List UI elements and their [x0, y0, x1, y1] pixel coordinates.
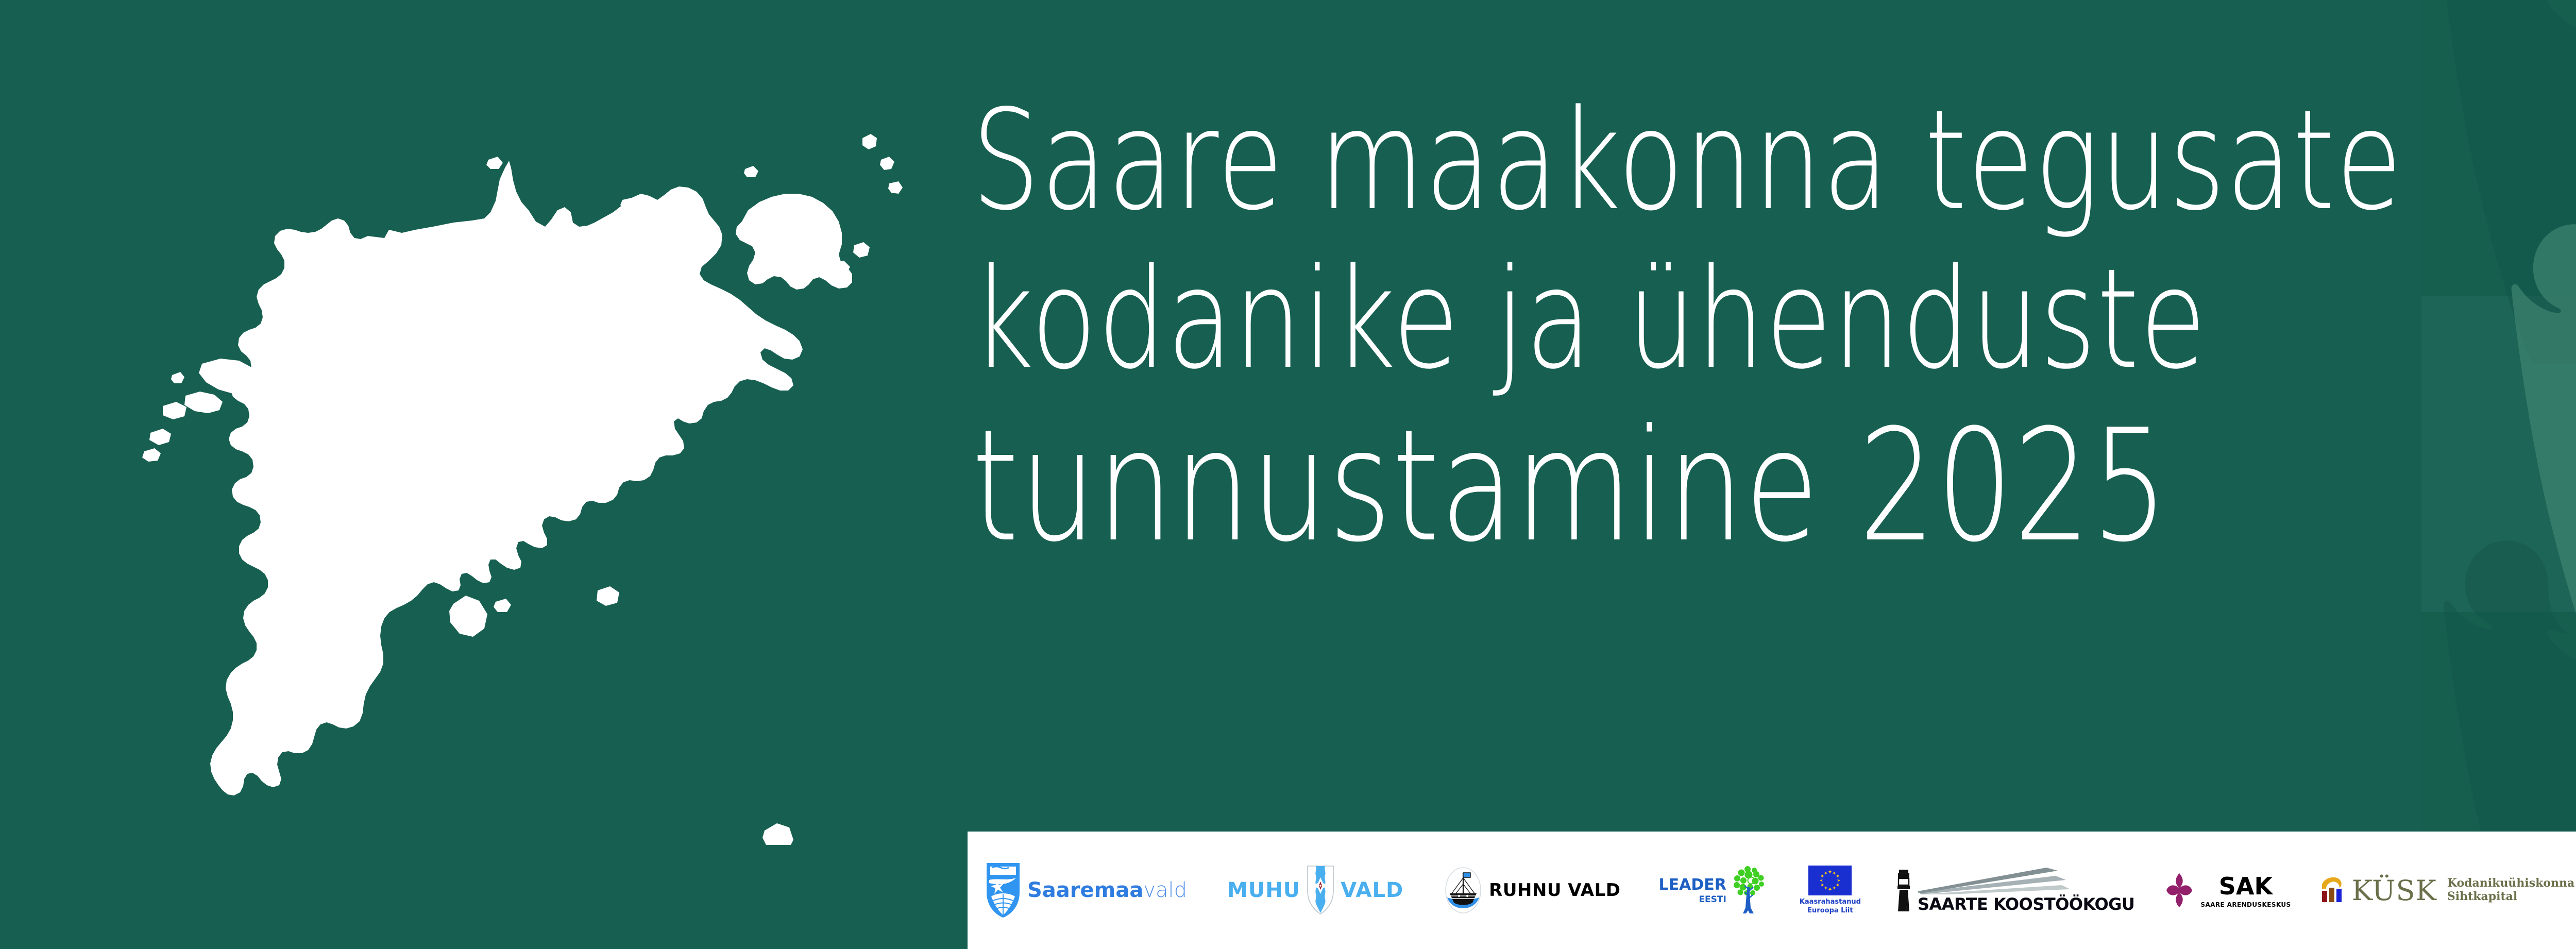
- leader-tree-icon: [1731, 865, 1767, 916]
- logo-saaremaa-vald[interactable]: Saaremaavald: [986, 862, 1187, 918]
- logo-muhu-word: MUHU: [1227, 878, 1300, 902]
- page-title: Saare maakonna tegusate kodanike ja ühen…: [972, 92, 2576, 584]
- ruhnu-coat-of-arms-icon: [1445, 867, 1482, 914]
- logo-euroopa-liit[interactable]: Kaasrahastanud Euroopa Liit: [1800, 866, 1861, 916]
- title-line-1: Saare maakonna tegusate: [972, 92, 2539, 230]
- lighthouse-icon: [1895, 867, 1912, 914]
- poster-canvas: Saare maakonna tegusate kodanike ja ühen…: [0, 0, 2576, 949]
- sak-flower-mark-icon: [2163, 871, 2195, 909]
- logo-kusk[interactable]: KÜSK Kodanikuühiskonna Sihtkapital: [2320, 874, 2575, 907]
- partner-logo-bar: Saaremaavald MUHU VALD: [968, 832, 2576, 949]
- logo-ruhnu-vald[interactable]: RUHNU VALD: [1445, 867, 1620, 914]
- logo-kusk-sub: Kodanikuühiskonna Sihtkapital: [2447, 877, 2574, 904]
- title-line-3: tunnustamine 2025: [972, 409, 2539, 564]
- logo-kusk-label: KÜSK: [2352, 874, 2437, 907]
- muhu-coat-of-arms-icon: [1307, 865, 1334, 916]
- eu-flag-icon: [1808, 866, 1852, 895]
- logo-sak-sub: SAARE ARENDUSKESKUS: [2200, 901, 2291, 908]
- logo-leader-eesti[interactable]: LEADER EESTI: [1659, 865, 1767, 916]
- lighthouse-beams-icon: [1918, 868, 2072, 894]
- kusk-sub-line-2: Sihtkapital: [2447, 890, 2574, 904]
- logo-sak[interactable]: SAK SAARE ARENDUSKESKUS: [2163, 871, 2291, 909]
- saaremaa-vald-word: vald: [1143, 878, 1187, 902]
- eu-caption-line-1: Kaasrahastanud: [1800, 898, 1861, 907]
- saaremaa-name: Saaremaa: [1027, 878, 1143, 902]
- leader-sub: EESTI: [1659, 894, 1726, 905]
- kusk-sub-line-1: Kodanikuühiskonna: [2447, 877, 2574, 890]
- title-line-2: kodanike ja ühenduste: [972, 250, 2539, 388]
- logo-leader-label: LEADER EESTI: [1659, 875, 1726, 906]
- kusk-bar-chart-icon: [2320, 875, 2347, 905]
- logo-saarte-koostookogu[interactable]: SAARTE KOOSTÖÖKOGU: [1895, 867, 2134, 914]
- logo-ruhnu-vald-label: RUHNU VALD: [1489, 880, 1620, 901]
- eu-caption: Kaasrahastanud Euroopa Liit: [1800, 898, 1861, 916]
- saare-county-map: [124, 72, 917, 845]
- logo-muhu-vald[interactable]: MUHU VALD: [1227, 865, 1403, 916]
- eu-caption-line-2: Euroopa Liit: [1800, 907, 1861, 916]
- logo-saaremaa-vald-label: Saaremaavald: [1027, 878, 1187, 902]
- leader-name: LEADER: [1659, 876, 1726, 894]
- logo-saarte-koostookogu-label: SAARTE KOOSTÖÖKOGU: [1918, 894, 2134, 914]
- logo-muhu-vald-word: VALD: [1341, 878, 1403, 902]
- saaremaa-coat-of-arms-icon: [986, 862, 1020, 918]
- logo-sak-label: SAK: [2219, 872, 2273, 900]
